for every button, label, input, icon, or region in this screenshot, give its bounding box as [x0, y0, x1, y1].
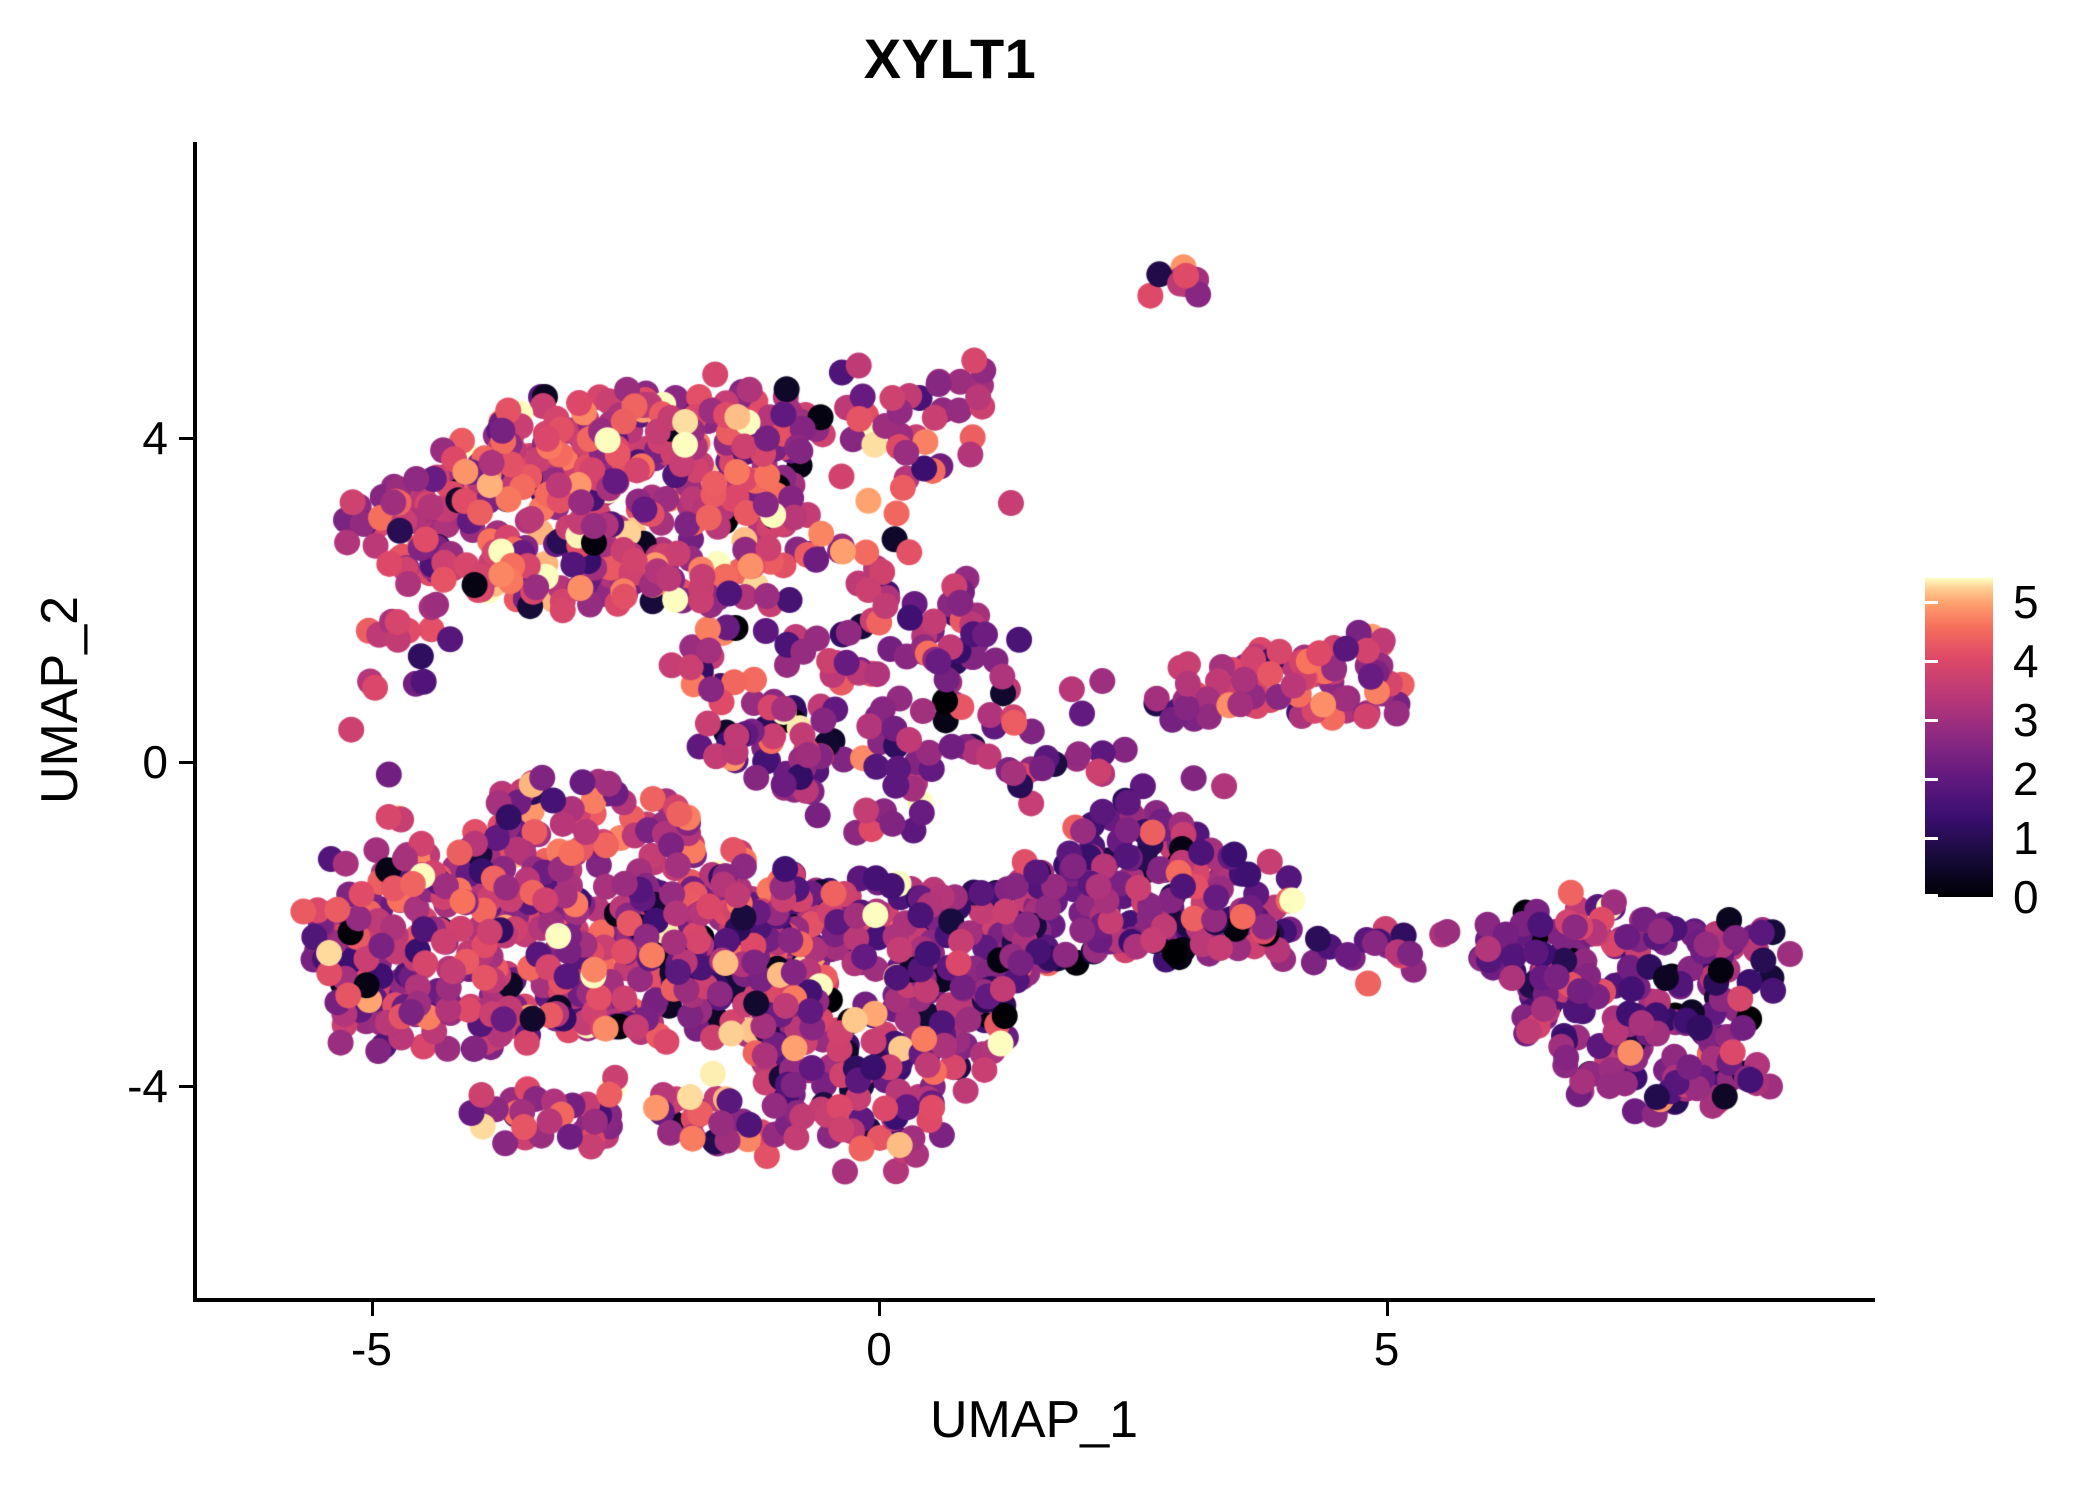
colorbar-tick-label: 4 — [2013, 634, 2039, 688]
colorbar-tick-label: 0 — [2013, 870, 2039, 924]
colorbar-tick-mark — [1912, 837, 1925, 840]
colorbar-tick-label: 5 — [2013, 575, 2039, 629]
scatter-plot-panel — [195, 142, 1873, 1300]
colorbar-tick-mark — [1912, 778, 1925, 781]
x-tick-mark — [1386, 1302, 1389, 1316]
x-axis-line — [193, 1298, 1875, 1302]
colorbar-tick-mark — [1925, 719, 1938, 722]
colorbar-tick-mark — [1912, 601, 1925, 604]
page-title: XYLT1 — [0, 26, 1900, 91]
colorbar-tick-label: 1 — [2013, 811, 2039, 865]
y-tick-label: -4 — [127, 1059, 168, 1113]
colorbar-tick-mark — [1925, 894, 1938, 897]
colorbar-tick-mark — [1925, 837, 1938, 840]
y-axis-line — [193, 142, 197, 1302]
x-tick-label: 5 — [1374, 1322, 1400, 1376]
colorbar-tick-mark — [1912, 660, 1925, 663]
feature-plot-figure: XYLT1 -505 -404 UMAP_1 UMAP_2 543210 — [0, 0, 2100, 1500]
y-tick-label: 0 — [142, 735, 168, 789]
x-tick-mark — [371, 1302, 374, 1316]
colorbar-tick-label: 2 — [2013, 752, 2039, 806]
colorbar-tick-mark — [1925, 660, 1938, 663]
colorbar-tick-mark — [1925, 778, 1938, 781]
colorbar-tick-mark — [1912, 894, 1925, 897]
y-tick-mark — [179, 1085, 193, 1088]
y-tick-label: 4 — [142, 411, 168, 465]
scatter-points-layer — [195, 142, 1873, 1300]
colorbar-tick-mark — [1925, 601, 1938, 604]
colorbar-gradient — [1925, 578, 1993, 897]
x-axis-title: UMAP_1 — [195, 1390, 1873, 1450]
x-tick-label: -5 — [351, 1322, 392, 1376]
colorbar-tick-label: 3 — [2013, 693, 2039, 747]
y-tick-mark — [179, 437, 193, 440]
y-axis-title: UMAP_2 — [30, 400, 90, 1000]
colorbar-tick-mark — [1912, 719, 1925, 722]
x-tick-mark — [878, 1302, 881, 1316]
y-tick-mark — [179, 761, 193, 764]
x-tick-label: 0 — [866, 1322, 892, 1376]
